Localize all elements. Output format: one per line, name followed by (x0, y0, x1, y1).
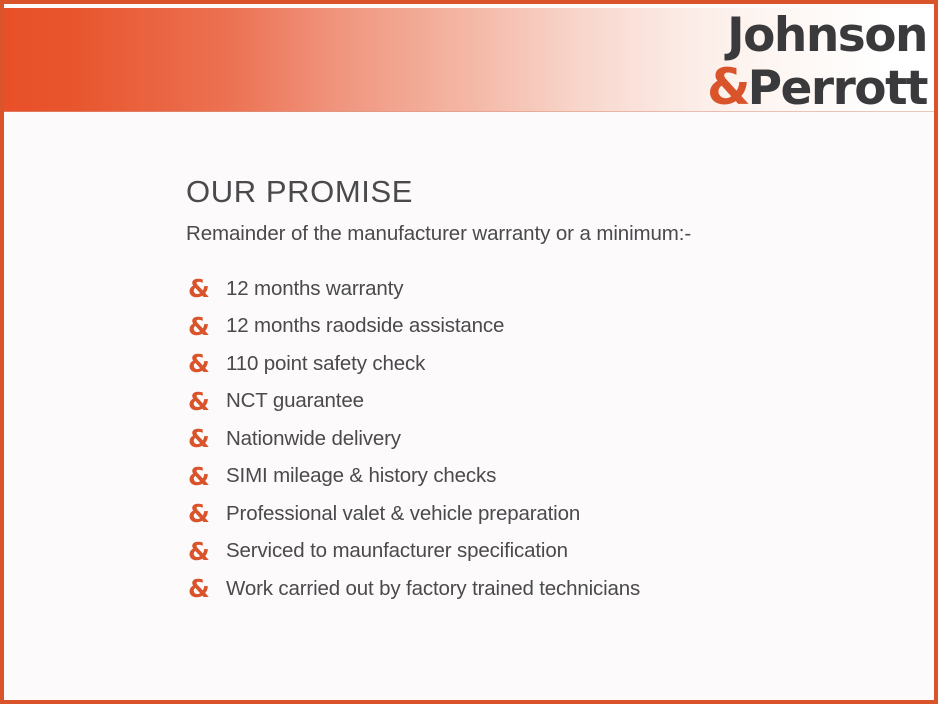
page-title: OUR PROMISE (186, 172, 906, 212)
list-item: & Professional valet & vehicle preparati… (186, 495, 906, 533)
ampersand-bullet-icon: & (186, 501, 226, 526)
brand-logo-perrott-text: Perrott (748, 61, 927, 116)
ampersand-bullet-icon: & (186, 351, 226, 376)
list-item: & Nationwide delivery (186, 420, 906, 458)
ampersand-bullet-icon: & (186, 389, 226, 414)
list-item: & NCT guarantee (186, 383, 906, 421)
ampersand-bullet-icon: & (186, 314, 226, 339)
list-item-label: Work carried out by factory trained tech… (226, 576, 640, 602)
list-item-label: Serviced to maunfacturer specification (226, 538, 568, 564)
list-item-label: Nationwide delivery (226, 426, 401, 452)
brand-logo-line-johnson: Johnson (707, 10, 927, 62)
promise-list: & 12 months warranty & 12 months raodsid… (186, 270, 906, 608)
list-item: & 12 months warranty (186, 270, 906, 308)
promise-content: OUR PROMISE Remainder of the manufacture… (186, 172, 906, 608)
list-item: & 110 point safety check (186, 345, 906, 383)
site-header: Johnson &Perrott (4, 8, 934, 112)
promise-page: Johnson &Perrott OUR PROMISE Remainder o… (0, 0, 938, 704)
ampersand-bullet-icon: & (186, 426, 226, 451)
ampersand-bullet-icon: & (186, 576, 226, 601)
list-item-label: NCT guarantee (226, 388, 364, 414)
list-item: & SIMI mileage & history checks (186, 458, 906, 496)
list-item-label: 110 point safety check (226, 351, 425, 377)
list-item-label: SIMI mileage & history checks (226, 463, 496, 489)
list-item: & 12 months raodside assistance (186, 308, 906, 346)
promise-subtitle: Remainder of the manufacturer warranty o… (186, 220, 906, 248)
list-item-label: Professional valet & vehicle preparation (226, 501, 580, 527)
list-item: & Serviced to maunfacturer specification (186, 533, 906, 571)
ampersand-bullet-icon: & (186, 276, 226, 301)
ampersand-bullet-icon: & (186, 539, 226, 564)
list-item-label: 12 months raodside assistance (226, 313, 504, 339)
brand-logo[interactable]: Johnson &Perrott (707, 10, 927, 114)
brand-ampersand-icon: & (707, 58, 747, 116)
brand-logo-line-perrott: &Perrott (707, 62, 927, 114)
ampersand-bullet-icon: & (186, 464, 226, 489)
list-item: & Work carried out by factory trained te… (186, 570, 906, 608)
list-item-label: 12 months warranty (226, 276, 403, 302)
